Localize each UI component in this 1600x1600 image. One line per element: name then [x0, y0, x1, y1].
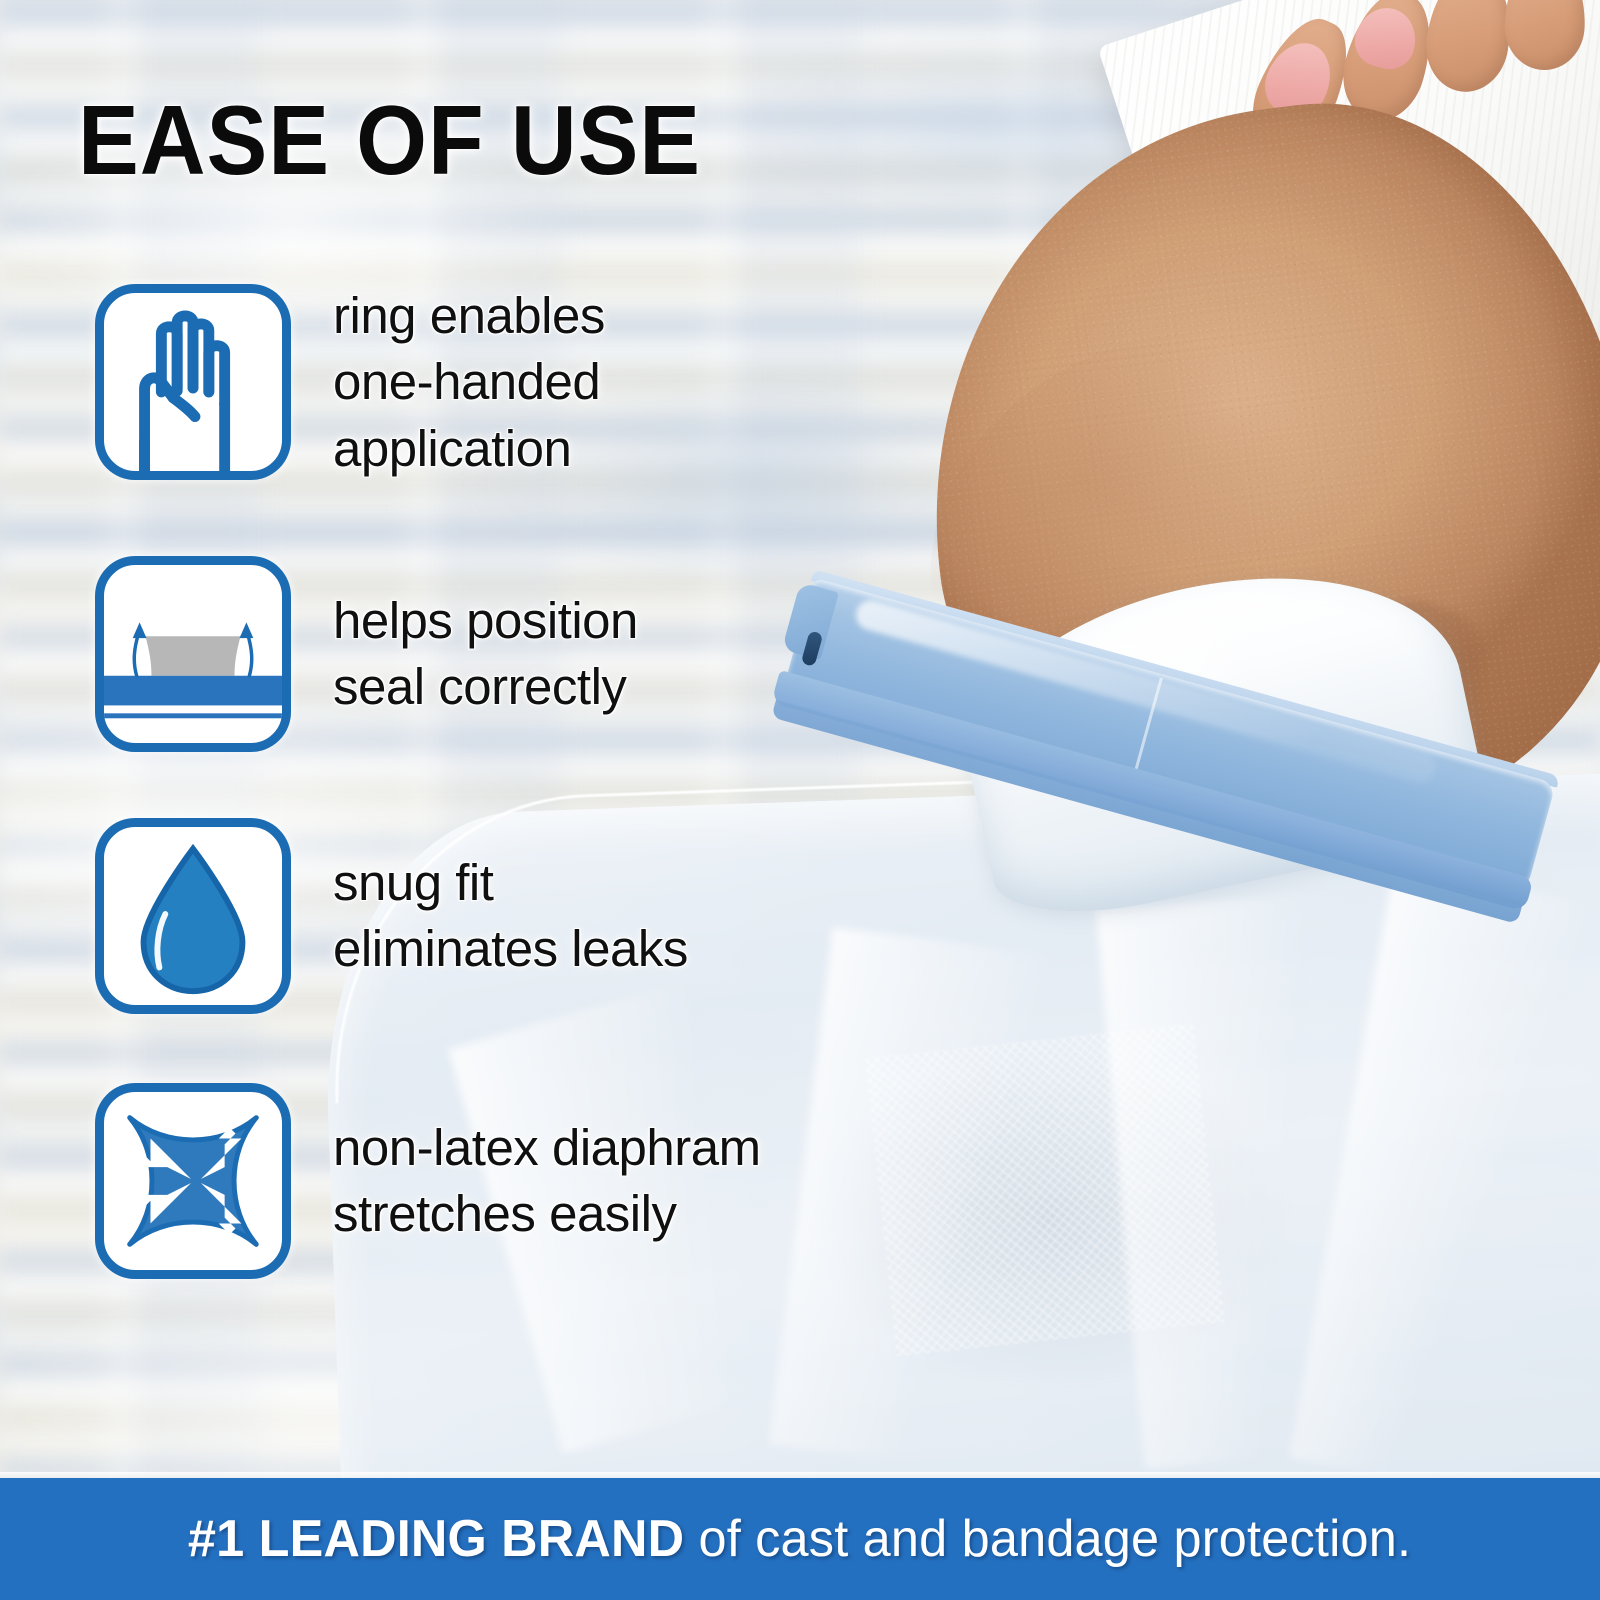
- banner-text: #1 LEADING BRAND of cast and bandage pro…: [188, 1509, 1411, 1569]
- infographic-canvas: EASE OF USE ring e: [0, 0, 1600, 1600]
- feature-row: snug fit eliminates leaks: [95, 818, 833, 1014]
- seal-position-icon: [95, 556, 291, 752]
- feature-text: ring enables one-handed application: [333, 283, 793, 482]
- page-title: EASE OF USE: [78, 84, 701, 197]
- stretch-arrows-icon: [95, 1083, 291, 1279]
- feature-text: non-latex diaphram stretches easily: [333, 1115, 953, 1248]
- banner-strong-text: #1 LEADING BRAND: [188, 1510, 684, 1568]
- feature-row: ring enables one-handed application: [95, 283, 793, 482]
- feature-row: helps position seal correctly: [95, 556, 803, 752]
- feature-text: snug fit eliminates leaks: [333, 850, 833, 983]
- feature-row: non-latex diaphram stretches easily: [95, 1083, 953, 1279]
- feature-text: helps position seal correctly: [333, 588, 803, 721]
- open-hand-icon: [95, 284, 291, 480]
- leading-brand-banner: #1 LEADING BRAND of cast and bandage pro…: [0, 1478, 1600, 1600]
- water-drop-icon: [95, 818, 291, 1014]
- banner-rest-text: of cast and bandage protection.: [685, 1510, 1412, 1568]
